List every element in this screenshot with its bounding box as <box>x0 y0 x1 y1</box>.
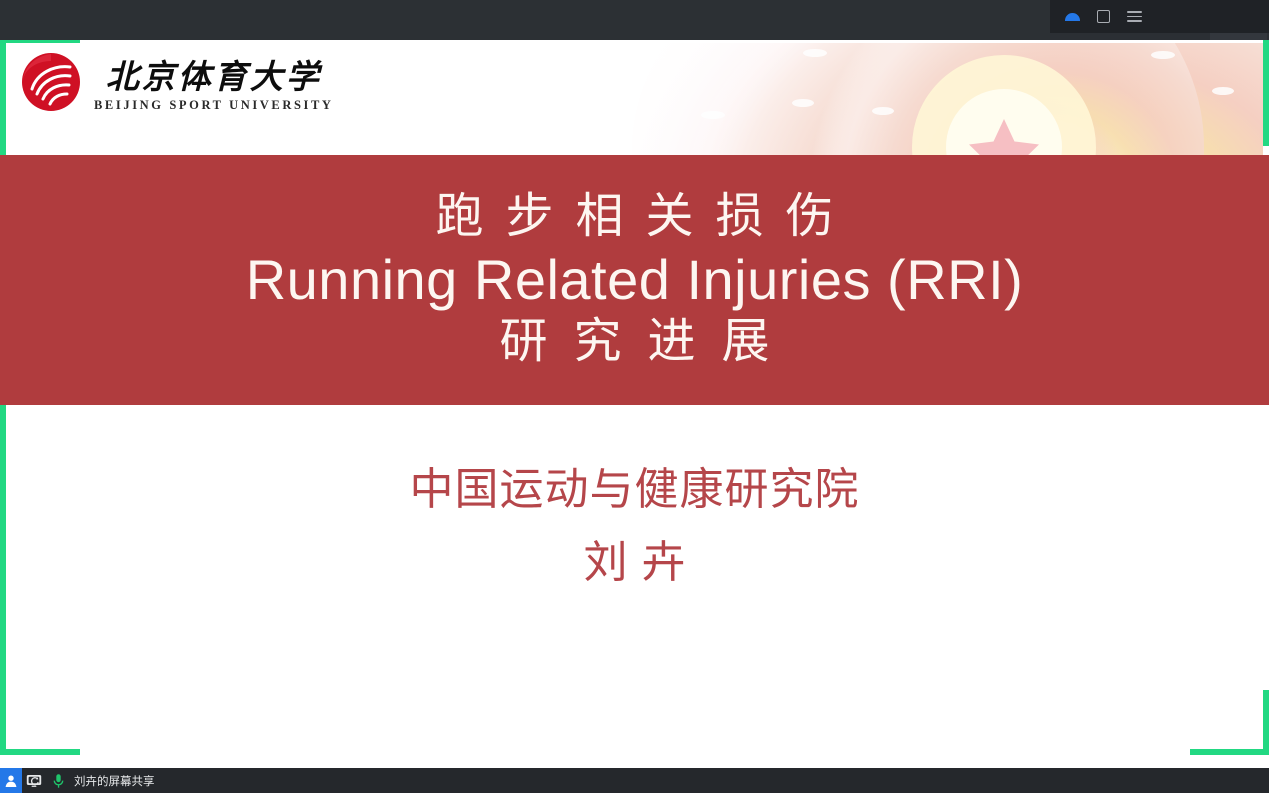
hamburger-menu-icon <box>1127 11 1142 22</box>
slide-header: 北京体育大学 BEIJING SPORT UNIVERSITY <box>6 43 1263 155</box>
screen-share-button[interactable] <box>22 768 46 793</box>
title-line-chinese-bottom: 研究进展 <box>473 313 795 371</box>
participant-button[interactable] <box>0 768 22 793</box>
screen-share-icon <box>26 774 42 788</box>
taskbar-status-text: 刘卉的屏幕共享 <box>74 773 155 789</box>
university-logo: 北京体育大学 BEIJING SPORT UNIVERSITY <box>20 51 334 113</box>
minimize-icon <box>1065 13 1080 21</box>
firework-starburst-decoration <box>563 43 1263 155</box>
maximize-icon <box>1097 10 1110 23</box>
share-border-bottom-left <box>0 749 80 755</box>
share-border-bottom-right <box>1190 749 1269 755</box>
slide-subtitle-block: 中国运动与健康研究院 刘卉 <box>0 460 1269 593</box>
taskbar: 刘卉的屏幕共享 <box>0 768 1269 793</box>
zoom-floating-controls[interactable] <box>1050 0 1269 33</box>
minimize-button[interactable] <box>1061 6 1083 28</box>
shared-screen-area: 北京体育大学 BEIJING SPORT UNIVERSITY 跑步相关损伤 R… <box>0 40 1269 768</box>
microphone-button[interactable] <box>46 768 70 793</box>
maximize-button[interactable] <box>1092 6 1114 28</box>
share-border-right-top <box>1263 40 1269 146</box>
logo-english-name: BEIJING SPORT UNIVERSITY <box>94 98 334 113</box>
microphone-icon <box>52 773 65 789</box>
participant-icon <box>4 774 18 788</box>
menu-button[interactable] <box>1123 6 1145 28</box>
bsu-swirl-logo-icon <box>20 51 82 113</box>
share-border-right-bottom <box>1263 690 1269 755</box>
slide-title-banner: 跑步相关损伤 Running Related Injuries (RRI) 研究… <box>0 155 1269 405</box>
zoom-meeting-window: 正在讲话: 刘卉; <box>0 0 1269 793</box>
subtitle-organization: 中国运动与健康研究院 <box>0 460 1269 519</box>
title-line-english: Running Related Injuries (RRI) <box>246 246 1024 313</box>
subtitle-presenter: 刘卉 <box>0 533 1269 592</box>
title-line-chinese-top: 跑步相关损伤 <box>413 189 855 246</box>
logo-chinese-name: 北京体育大学 <box>106 59 322 95</box>
